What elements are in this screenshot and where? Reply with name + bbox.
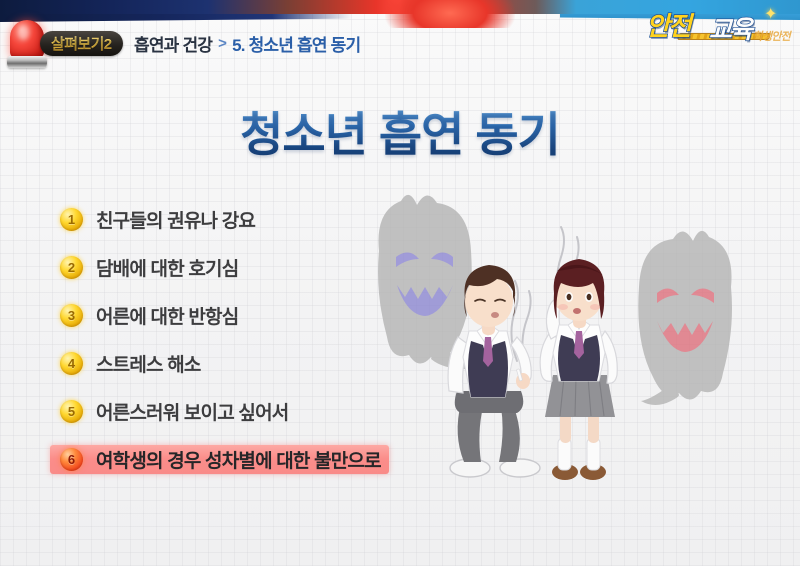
slide-canvas: 살펴보기2 흡연과 건강 > 5. 청소년 흡연 동기 안전 교육 학생안전 ✦… [0,0,800,566]
breadcrumb-parent: 흡연과 건강 [134,31,212,56]
logo-subtitle: 학생안전 [753,28,790,44]
list-item-label: 어른스러워 보이고 싶어서 [96,398,288,425]
list-item-label: 스트레스 해소 [96,350,201,377]
sparkle-icon: ✦ [764,4,777,24]
list-item-number: 4 [60,352,83,375]
breadcrumb-current: 5. 청소년 흡연 동기 [232,31,360,56]
section-tag-label: 살펴보기2 [51,33,112,54]
list-item: 2 담배에 대한 호기심 [50,253,430,282]
list-item: 3 어른에 대한 반항심 [50,301,430,330]
list-item-highlighted: 6 여학생의 경우 성차별에 대한 불만으로 [50,445,389,474]
list-item-number: 2 [60,256,83,279]
section-tag-badge: 살펴보기2 [40,31,123,56]
motivation-list: 1 친구들의 권유나 강요 2 담배에 대한 호기심 3 어른에 대한 반항심 … [50,205,430,493]
list-item-label: 친구들의 권유나 강요 [96,206,255,233]
list-item-number: 3 [60,304,83,327]
siren-base [7,56,47,68]
breadcrumb-separator-icon: > [218,35,226,52]
list-item: 1 친구들의 권유나 강요 [50,205,430,234]
logo-part1: 안전 [646,6,690,43]
list-item: 4 스트레스 해소 [50,349,430,378]
list-item-number: 1 [60,208,83,231]
list-item: 5 어른스러워 보이고 싶어서 [50,397,430,426]
brand-logo: 안전 교육 학생안전 ✦ [642,2,792,54]
ghost-right [638,231,732,405]
logo-part2: 교육 [709,10,751,46]
list-item-label: 담배에 대한 호기심 [96,254,238,281]
student-girl [540,259,617,480]
page-title: 청소년 흡연 동기 [0,96,800,165]
siren-dome [10,20,44,58]
list-item-label: 어른에 대한 반항심 [96,302,238,329]
list-item-label: 여학생의 경우 성차별에 대한 불만으로 [96,446,381,473]
list-item-number: 5 [60,400,83,423]
breadcrumb: 흡연과 건강 > 5. 청소년 흡연 동기 [134,30,360,56]
list-item-number: 6 [60,448,83,471]
illustration-students-ghosts [365,185,800,495]
